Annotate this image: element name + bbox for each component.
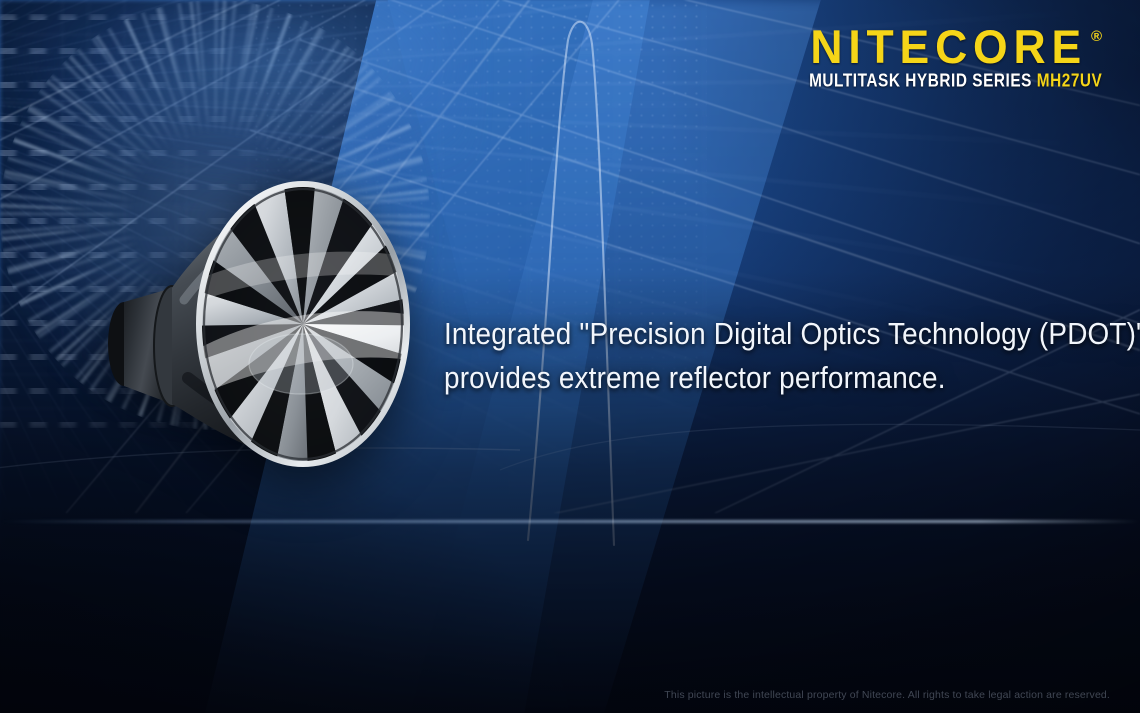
registered-trademark-icon: ® [1091,28,1102,45]
headline-text: Integrated "Precision Digital Optics Tec… [444,312,1056,400]
brand-wordmark: NITECORE [810,26,1087,69]
copyright-notice: This picture is the intellectual propert… [664,689,1110,701]
headline-line-2: provides extreme reflector performance. [444,356,1056,400]
background-horizontal-light-streak [0,520,1140,523]
promo-banner: NITECORE ® MULTITASK HYBRID SERIES MH27U… [0,0,1140,713]
reflector-bowl [162,168,428,486]
headline-line-1: Integrated "Precision Digital Optics Tec… [444,312,1056,356]
logo-wordmark-row: NITECORE ® [787,26,1102,65]
series-label: MULTITASK HYBRID SERIES [809,71,1032,91]
model-label: MH27UV [1036,71,1102,91]
series-tagline: MULTITASK HYBRID SERIES MH27UV [809,71,1102,92]
reflector-product-image [88,168,428,486]
nitecore-logo: NITECORE ® MULTITASK HYBRID SERIES MH27U… [787,26,1102,90]
